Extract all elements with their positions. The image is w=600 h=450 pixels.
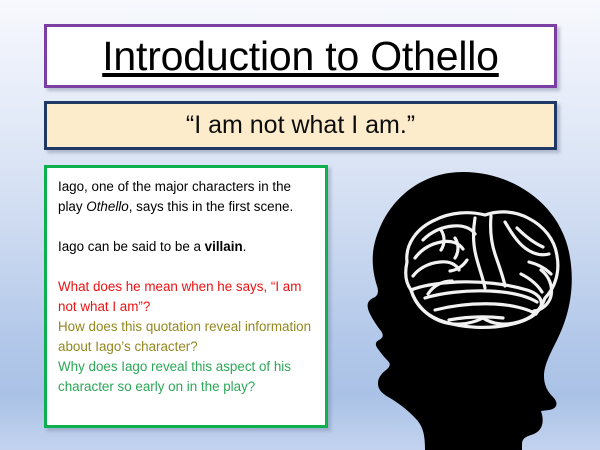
body-text-box: Iago, one of the major characters in the… [44, 165, 328, 428]
question-1: What does he mean when he says, “I am no… [58, 277, 315, 317]
quote-text: “I am not what I am.” [186, 113, 415, 138]
question-2: How does this quotation reveal informati… [58, 317, 315, 357]
villain-emphasis: villain [205, 239, 243, 254]
paragraph-iago-intro-part2: , says this in the first scene. [129, 199, 293, 214]
play-title-emphasis: Othello [86, 199, 128, 214]
quote-box: “I am not what I am.” [44, 101, 557, 150]
paragraph-iago-villain-part1: Iago can be said to be a [58, 239, 205, 254]
paragraph-iago-intro: Iago, one of the major characters in the… [58, 177, 315, 217]
slide-canvas: Introduction to Othello “I am not what I… [0, 0, 600, 450]
question-3: Why does Iago reveal this aspect of his … [58, 357, 315, 397]
page-title: Introduction to Othello [102, 36, 499, 77]
title-box: Introduction to Othello [44, 24, 557, 88]
question-spacer [58, 257, 315, 277]
paragraph-iago-villain-part2: . [243, 239, 247, 254]
paragraph-spacer [58, 217, 315, 237]
head-silhouette-with-brain-image [345, 170, 600, 450]
paragraph-iago-villain: Iago can be said to be a villain. [58, 237, 315, 257]
